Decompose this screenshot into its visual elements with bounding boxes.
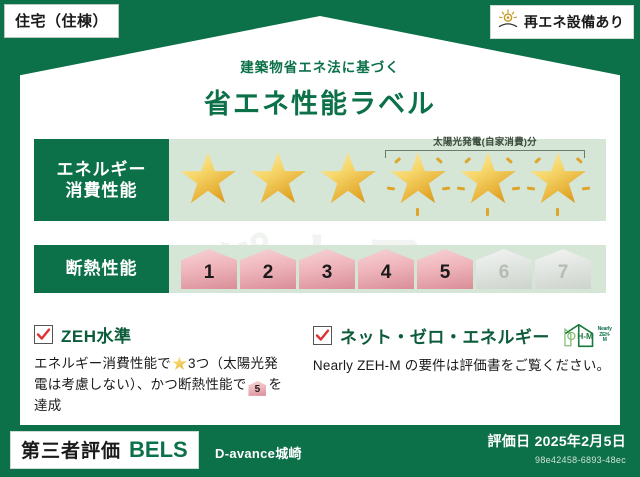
metric-label-energy-line1: エネルギー: [57, 159, 147, 180]
sparkle-icon: [442, 186, 450, 190]
zeh-m-sub-label: Nearly ZEH-M: [597, 327, 612, 344]
evaluation-id: 98e42458-6893-48ec: [487, 455, 626, 465]
sparkle-icon: [556, 208, 559, 216]
metric-label-insulation-text: 断熱性能: [66, 258, 138, 279]
insulation-grade-6: 6: [476, 249, 532, 289]
star-icon: [179, 151, 237, 207]
checkbox-zeh[interactable]: [34, 325, 53, 344]
star-icon: [172, 356, 187, 371]
insulation-grade-1: 1: [181, 249, 237, 289]
metric-row-insulation: 断熱性能 1234567: [34, 245, 606, 293]
sparkle-icon: [512, 186, 520, 190]
zeh-m-house-icon: H-M: [562, 322, 595, 349]
sparkle-icon: [486, 208, 489, 216]
criteria-netzero-head: ネット・ゼロ・エネルギー H-M Nearly ZEH-M: [313, 322, 612, 349]
sparkle-icon: [457, 186, 465, 190]
criteria-zeh: ZEH水準 エネルギー消費性能で3つ（太陽光発電は考慮しない）、かつ断熱性能で5…: [34, 322, 291, 417]
solar-annotation: 太陽光発電(自家消費)分: [385, 134, 585, 158]
building-name: D-avance城崎: [215, 443, 302, 462]
bels-chip: 第三者評価 BELS: [10, 431, 199, 469]
metric-value-insulation: 1234567: [169, 245, 606, 293]
criteria-zeh-head: ZEH水準: [34, 322, 291, 347]
criteria-section: ZEH水準 エネルギー消費性能で3つ（太陽光発電は考慮しない）、かつ断熱性能で5…: [34, 322, 612, 417]
criteria-zeh-text1: エネルギー消費性能で: [34, 356, 171, 371]
svg-text:H-M: H-M: [577, 331, 593, 341]
check-icon: [36, 327, 51, 342]
title-subtitle: 建築物省エネ法に基づく: [0, 56, 640, 76]
criteria-netzero: ネット・ゼロ・エネルギー H-M Nearly ZEH-M Nearly ZEH…: [313, 322, 612, 417]
solar-annotation-bracket: [385, 150, 585, 158]
bels-jp-label: 第三者評価: [21, 436, 121, 463]
criteria-zeh-title: ZEH水準: [61, 322, 132, 347]
bels-en-label: BELS: [129, 437, 188, 463]
sparkle-icon: [527, 186, 535, 190]
criteria-netzero-body: Nearly ZEH-M の要件は評価書をご覧ください。: [313, 356, 612, 377]
house-type-chip: 住宅（住棟）: [4, 4, 119, 38]
evaluation-date-value: 2025年2月5日: [535, 433, 626, 449]
star-2: [245, 143, 312, 217]
criteria-netzero-title: ネット・ゼロ・エネルギー: [340, 323, 550, 348]
metric-label-insulation: 断熱性能: [34, 245, 169, 293]
title-main: 省エネ性能ラベル: [0, 82, 640, 121]
criteria-zeh-body: エネルギー消費性能で3つ（太陽光発電は考慮しない）、かつ断熱性能で5を達成: [34, 354, 291, 417]
checkbox-netzero[interactable]: [313, 326, 332, 345]
renewable-energy-badge: 再エネ設備あり: [490, 5, 634, 39]
grade-icon: 5: [248, 381, 266, 396]
evaluation-date: 評価日 2025年2月5日: [487, 431, 626, 451]
star-icon: [249, 151, 307, 207]
insulation-grade-2: 2: [240, 249, 296, 289]
title-block: 建築物省エネ法に基づく 省エネ性能ラベル: [0, 56, 640, 121]
insulation-grade-4: 4: [358, 249, 414, 289]
insulation-grade-5: 5: [417, 249, 473, 289]
energy-performance-label: パナス 住宅（住棟） 再エネ設備あり 建築物省エネ法に基づく 省エネ性能ラベル: [0, 0, 640, 477]
solar-annotation-label: 太陽光発電(自家消費)分: [385, 134, 585, 148]
renewable-badge-label: 再エネ設備あり: [524, 12, 624, 32]
insulation-grade-7: 7: [535, 249, 591, 289]
metric-label-energy: エネルギー 消費性能: [34, 139, 169, 221]
zeh-m-sub-line2: ZEH-M: [599, 332, 610, 344]
star-icon: [319, 151, 377, 207]
sparkle-icon: [582, 186, 590, 190]
insulation-grade-scale: 1234567: [169, 249, 591, 289]
star-3: [315, 143, 382, 217]
footer: 第三者評価 BELS D-avance城崎 評価日 2025年2月5日 98e4…: [0, 425, 640, 477]
evaluation-date-label: 評価日: [487, 433, 530, 449]
star-1: [175, 143, 242, 217]
sparkle-icon: [416, 208, 419, 216]
footer-right: 評価日 2025年2月5日 98e42458-6893-48ec: [487, 431, 626, 465]
sun-icon: [497, 9, 519, 34]
metric-label-energy-line2: 消費性能: [66, 180, 138, 201]
zeh-m-logo: H-M Nearly ZEH-M: [562, 322, 612, 349]
check-icon: [315, 328, 330, 343]
sparkle-icon: [387, 186, 395, 190]
insulation-grade-3: 3: [299, 249, 355, 289]
